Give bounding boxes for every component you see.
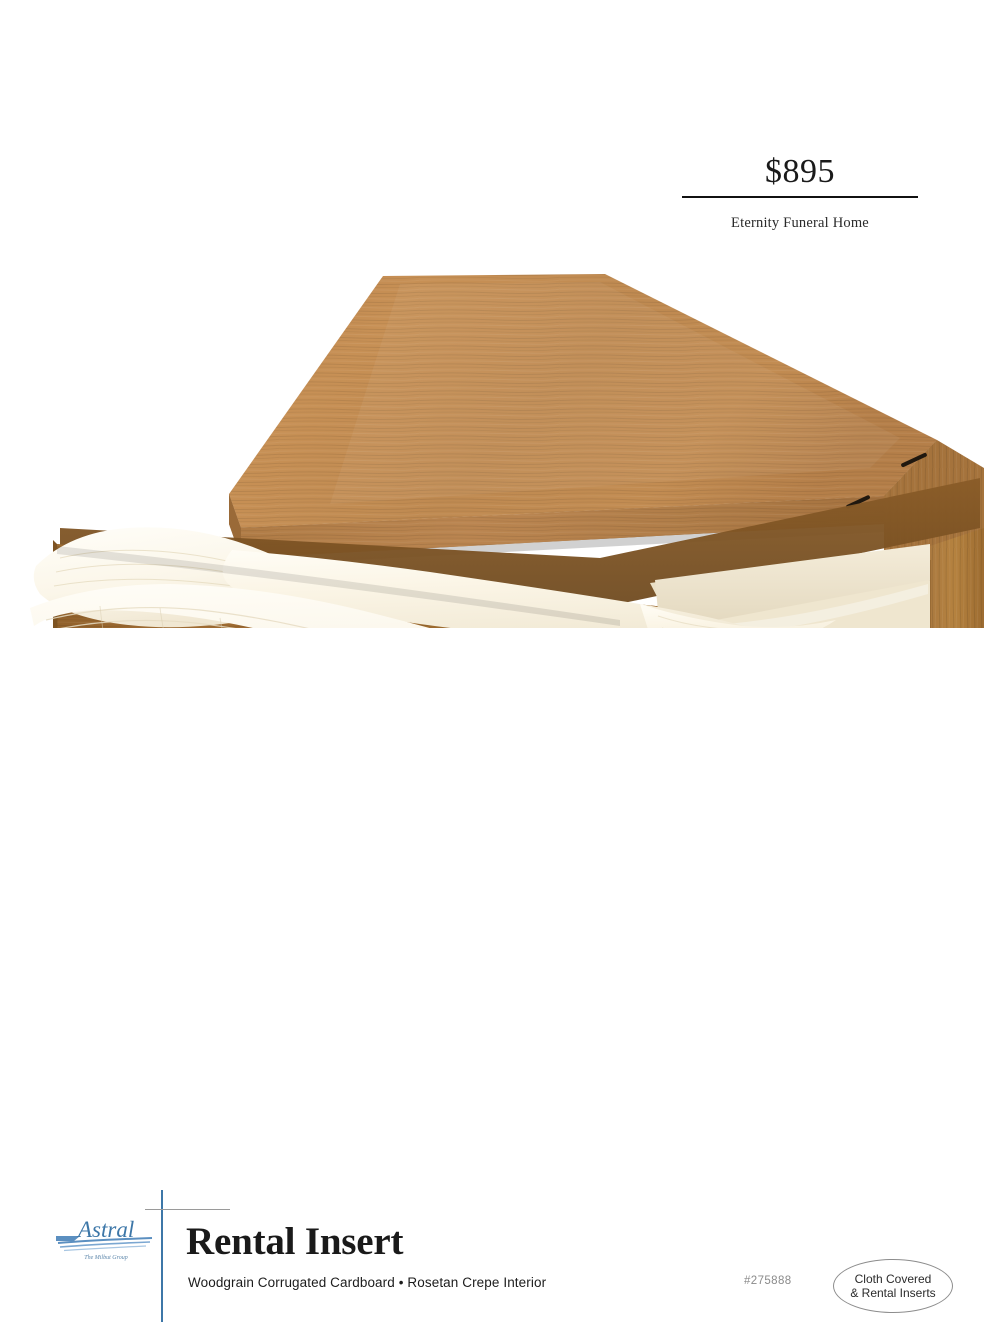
footer: Astral The Milbut Group Rental Insert Wo… [0, 592, 1000, 773]
price-value: $895 [682, 152, 918, 192]
catalog-page: $895 Eternity Funeral Home [0, 0, 1000, 773]
astral-wordmark-text: Astral [76, 1218, 134, 1242]
astral-tagline-text: The Milbut Group [84, 1255, 127, 1261]
product-subtitle: Woodgrain Corrugated Cardboard • Rosetan… [188, 1275, 546, 1290]
astral-logo: Astral The Milbut Group [54, 1218, 158, 1264]
category-badge-line1: Cloth Covered [855, 1272, 932, 1287]
product-title: Rental Insert [186, 1220, 403, 1264]
sku-number: #275888 [744, 1275, 792, 1287]
category-badge: Cloth Covered & Rental Inserts [833, 1259, 953, 1313]
price-divider-rule [682, 196, 918, 198]
price-block: $895 Eternity Funeral Home [682, 152, 918, 232]
divider-horizontal [145, 1209, 230, 1210]
category-badge-line2: & Rental Inserts [850, 1286, 935, 1301]
product-photo [0, 228, 1000, 628]
